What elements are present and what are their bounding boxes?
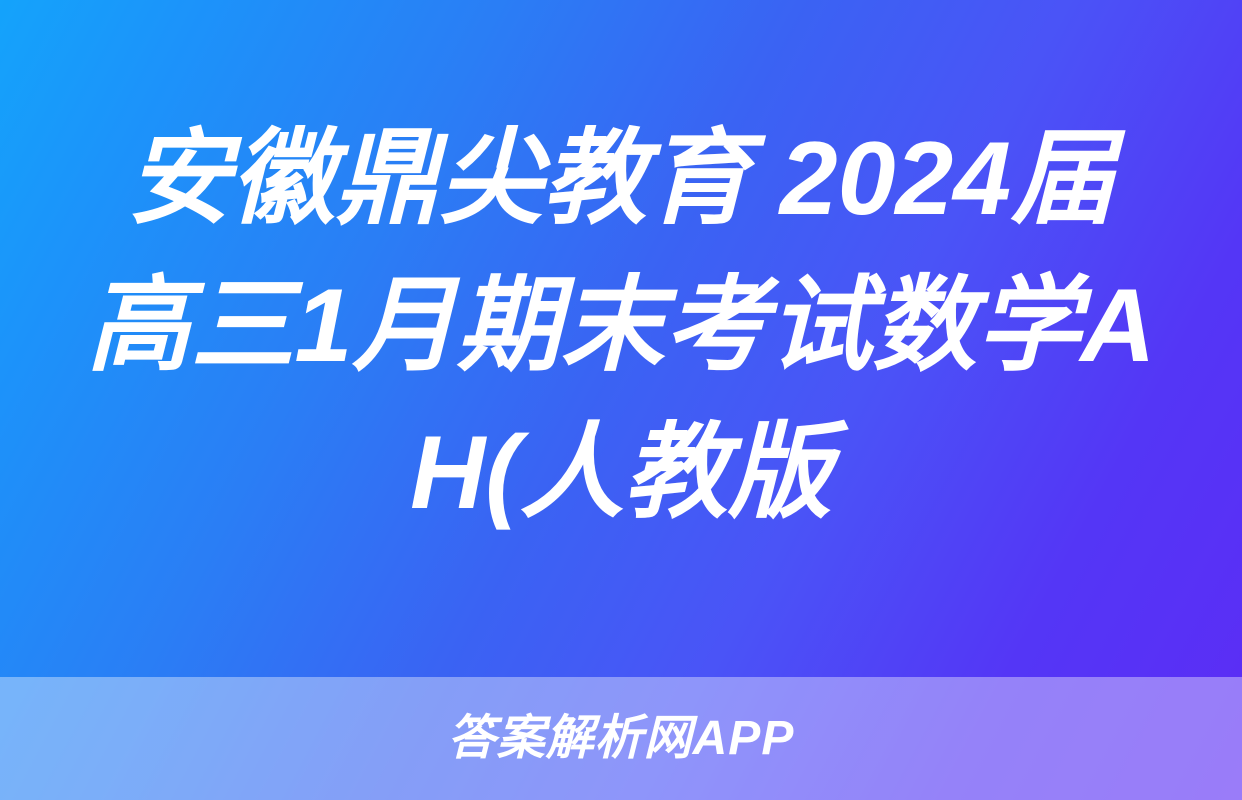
page-title: 安徽鼎尖教育 2024届高三1月期末考试数学AH(人教版	[76, 106, 1166, 547]
footer-watermark-band: 答案解析网APP	[0, 677, 1242, 800]
exam-paper-poster: 安徽鼎尖教育 2024届高三1月期末考试数学AH(人教版 答案解析网APP	[0, 0, 1242, 800]
poster-title-block: 安徽鼎尖教育 2024届高三1月期末考试数学AH(人教版	[0, 0, 1242, 677]
watermark-label: 答案解析网APP	[448, 715, 795, 763]
